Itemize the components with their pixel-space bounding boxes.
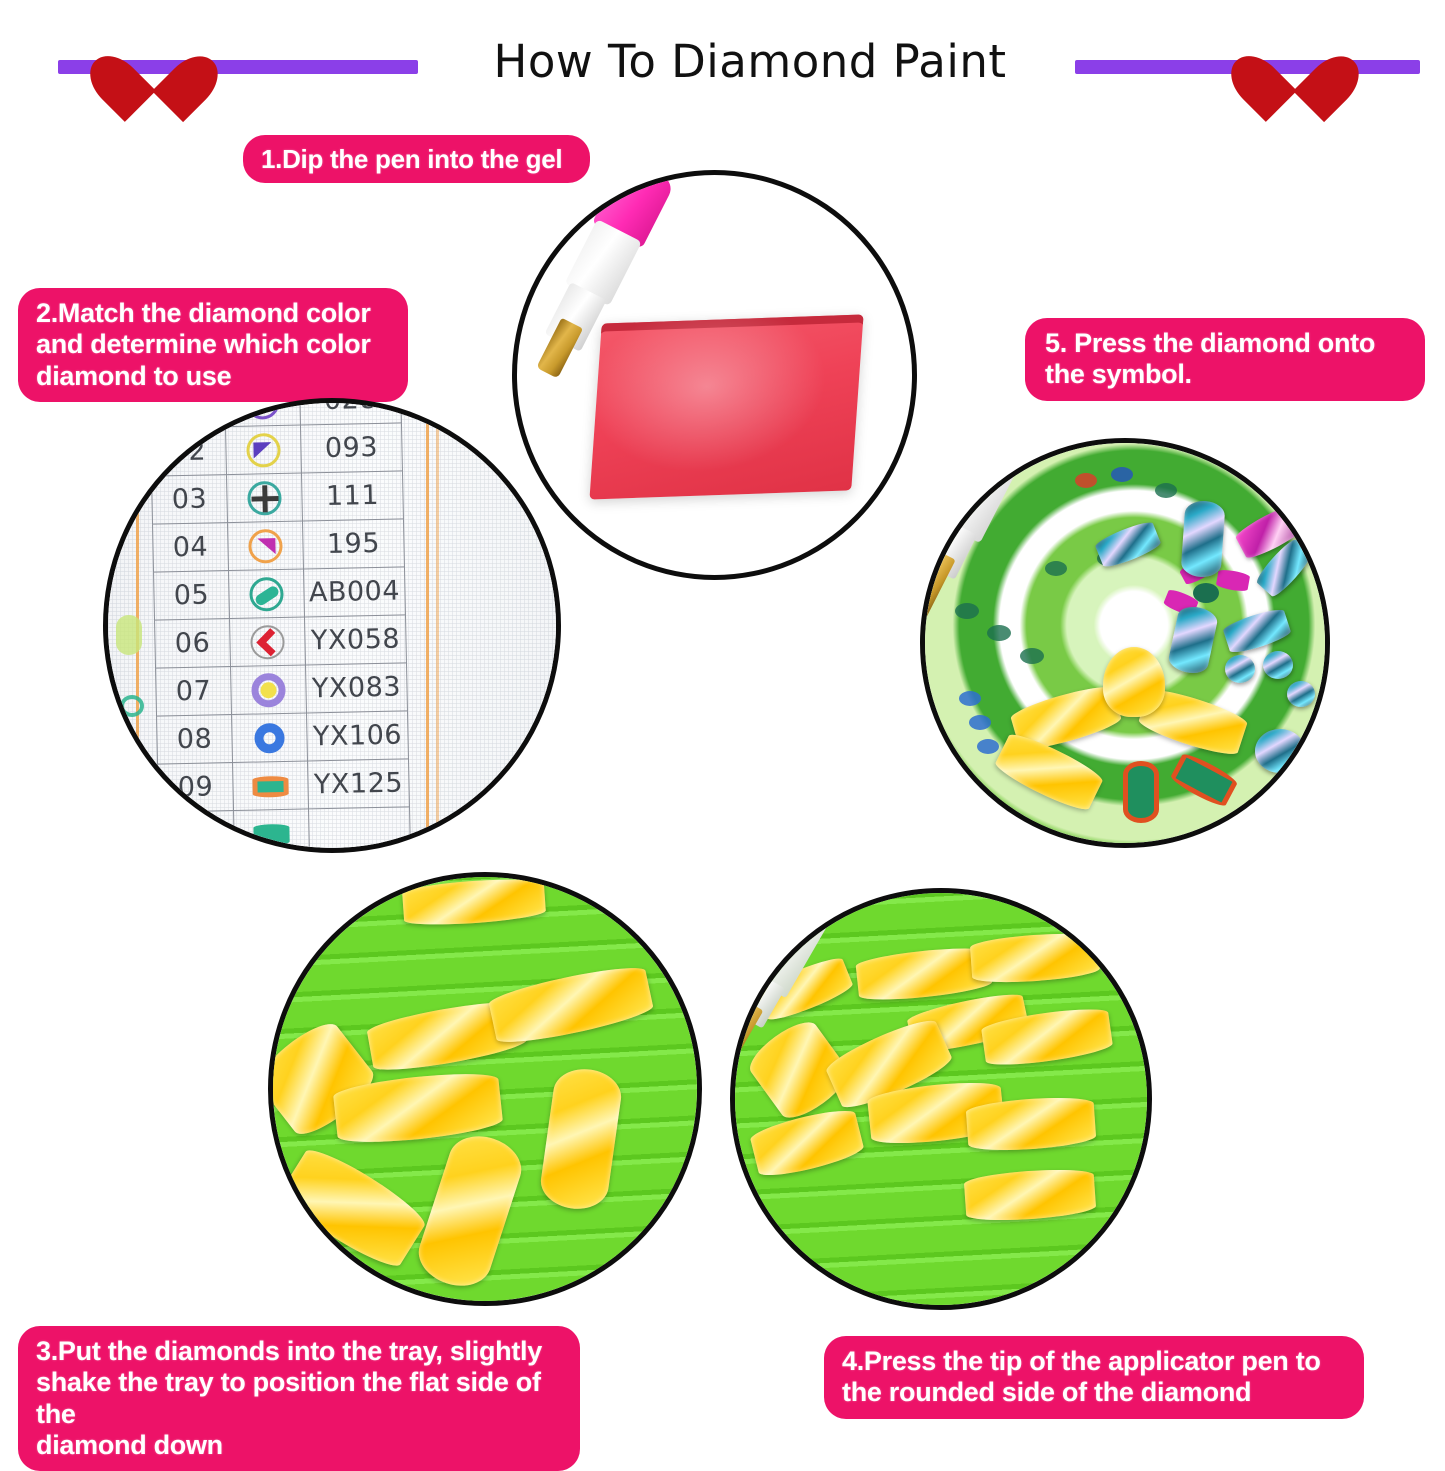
chart-symbol [224,398,300,427]
canvas-outline-leaf [1123,761,1159,823]
chart-code: YX058 [304,615,406,665]
canvas-symbol-dot [969,715,991,730]
chevron-left-icon [248,622,287,661]
chart-symbol [234,809,310,853]
chart-number: 09 [158,763,234,813]
diamond-ab [1180,500,1225,579]
diamond-yellow-active [1103,647,1165,717]
chart-code: 195 [302,519,404,569]
leaf-marquise-icon [252,814,291,853]
ring-filled-icon [249,670,288,709]
chart-code: YX083 [305,663,407,713]
chart-symbol [233,761,309,811]
chart-number: 05 [154,571,230,621]
chart-number: 08 [157,715,233,765]
chart-number [159,811,235,853]
table-row: 09 YX125 [158,759,410,812]
thick-ring-icon [250,718,289,757]
chart-number: 04 [153,523,229,573]
page-title: How To Diamond Paint [420,35,1080,88]
symbol-triangle [253,442,271,458]
diamond-ab-round [1263,651,1293,679]
step-2-photo: 01 028 02 [103,398,561,853]
step-4-scene [735,893,1147,1305]
chart-symbol [230,617,306,667]
chart-number: 02 [151,427,227,477]
table-row: 02 093 [151,423,403,476]
chart-symbol [226,473,302,523]
step-4-photo [730,888,1152,1310]
table-row: 07 YX083 [156,663,408,716]
table-row: 08 YX106 [157,711,409,764]
step-2-scene: 01 028 02 [108,403,556,848]
canvas-symbol-dot [987,625,1011,641]
canvas-symbol-dot [1155,483,1177,498]
chart-number: 06 [155,619,231,669]
heart-glyph-right [1253,27,1337,105]
canvas-symbol-dot [1111,467,1133,482]
stray-symbol-teal [120,695,144,717]
symbol-core [260,682,276,698]
leaf-marquise-icon [251,766,290,805]
chart-number: 03 [152,475,228,525]
cross-plus-icon [245,478,284,517]
chart-code: 028 [299,398,401,425]
canvas-symbol-dot [1020,648,1044,664]
diamond-ab-round [1225,655,1255,683]
canvas-symbol-dot [1045,561,1067,576]
step-2-label: 2.Match the diamond color and determine … [18,288,408,402]
canvas-center-dot [1193,583,1219,603]
chart-code [309,807,411,853]
chart-number: 07 [156,667,232,717]
chart-guide-line-right-2 [436,403,439,848]
chart-symbol [225,425,301,475]
chart-code: 111 [301,471,403,521]
color-symbol-table-body: 01 028 02 [150,398,411,853]
chart-code: YX125 [308,759,410,809]
chart-code: AB004 [303,567,405,617]
step-1-scene [517,175,912,575]
chart-guide-line-right [426,403,429,848]
step-1-photo [512,170,917,580]
chart-symbol [229,569,305,619]
triangle-left-icon [244,430,283,469]
table-row: 06 YX058 [155,615,407,668]
diamond-ab-round [1287,681,1315,707]
symbol-leaf [253,823,289,845]
infographic-canvas: How To Diamond Paint 1.Dip the pen into … [0,0,1445,1445]
step-3-scene [273,877,697,1301]
step-5-scene [925,443,1325,843]
heart-icon-right [1253,27,1337,105]
chart-symbol [231,665,307,715]
heart-icon-left [112,27,196,105]
step-5-photo [920,438,1330,848]
step-4-label: 4.Press the tip of the applicator pen to… [824,1336,1364,1419]
diagonal-bar-icon [247,574,286,613]
symbol-triangle [257,538,275,554]
table-row: 03 111 [152,471,404,524]
symbol-ring [254,722,285,753]
chart-number: 01 [150,398,226,428]
diamond-ab [1255,729,1305,773]
stray-symbol-green [116,615,142,655]
canvas-symbol-dot [977,739,999,754]
heart-glyph-left [112,27,196,105]
canvas-symbol-dot [959,691,981,706]
step-3-photo [268,872,702,1306]
step-3-label: 3.Put the diamonds into the tray, slight… [18,1326,580,1471]
color-symbol-table: 01 028 02 [149,398,411,853]
step-5-label: 5. Press the diamond onto the symbol. [1025,318,1425,401]
table-row [159,807,411,853]
chart-code: YX106 [307,711,409,761]
symbol-leaf [252,775,288,797]
triangle-right-icon [246,526,285,565]
chart-symbol [228,521,304,571]
gel-square [589,315,863,500]
canvas-symbol-dot [1075,473,1097,488]
symbol-cross-horizontal [251,496,278,502]
table-row: 05 AB004 [154,567,406,620]
chart-code: 093 [300,423,402,473]
table-row: 04 195 [153,519,405,572]
chart-symbol [232,713,308,763]
